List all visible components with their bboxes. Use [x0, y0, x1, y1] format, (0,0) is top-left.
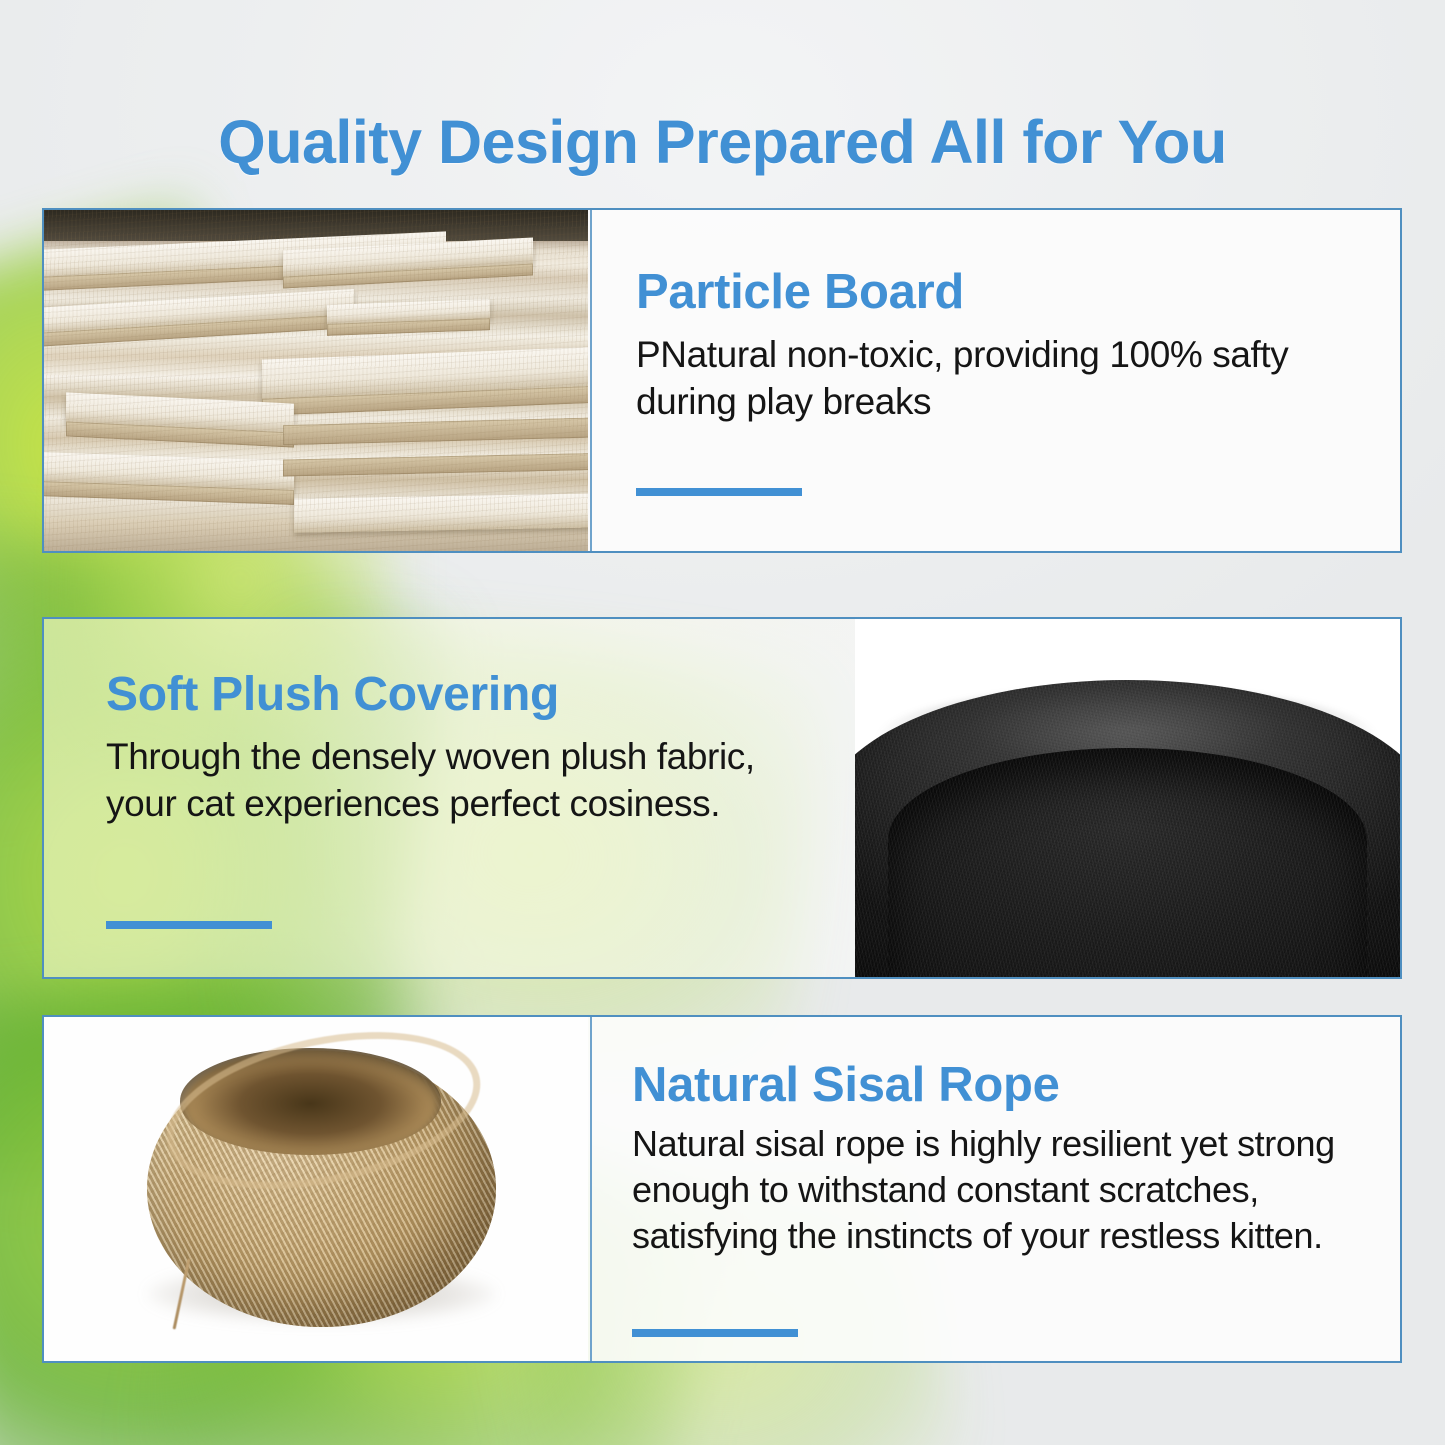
plush-fabric-photo: [855, 619, 1400, 977]
feature-card-natural-sisal-rope: Natural Sisal Rope Natural sisal rope is…: [42, 1015, 1402, 1363]
card-description: PNatural non-toxic, providing 100% safty…: [636, 332, 1360, 425]
card-text-pane: Soft Plush Covering Through the densely …: [44, 619, 855, 977]
feature-card-particle-board: Particle Board PNatural non-toxic, provi…: [42, 208, 1402, 553]
card-title: Natural Sisal Rope: [632, 1061, 1356, 1111]
card-description: Natural sisal rope is highly resilient y…: [632, 1121, 1356, 1259]
particle-board-photo: [44, 210, 588, 551]
accent-bar: [106, 921, 272, 929]
card-title: Particle Board: [636, 268, 1360, 318]
card-text-pane: Natural Sisal Rope Natural sisal rope is…: [588, 1017, 1400, 1361]
card-text-pane: Particle Board PNatural non-toxic, provi…: [588, 210, 1400, 551]
sisal-rope-photo: [44, 1017, 588, 1361]
card-description: Through the densely woven plush fabric, …: [106, 734, 815, 827]
page-title: Quality Design Prepared All for You: [0, 107, 1445, 177]
card-title: Soft Plush Covering: [106, 671, 815, 720]
feature-card-soft-plush-covering: Soft Plush Covering Through the densely …: [42, 617, 1402, 979]
accent-bar: [632, 1329, 798, 1337]
infographic-canvas: Quality Design Prepared All for You: [0, 0, 1445, 1445]
accent-bar: [636, 488, 802, 496]
